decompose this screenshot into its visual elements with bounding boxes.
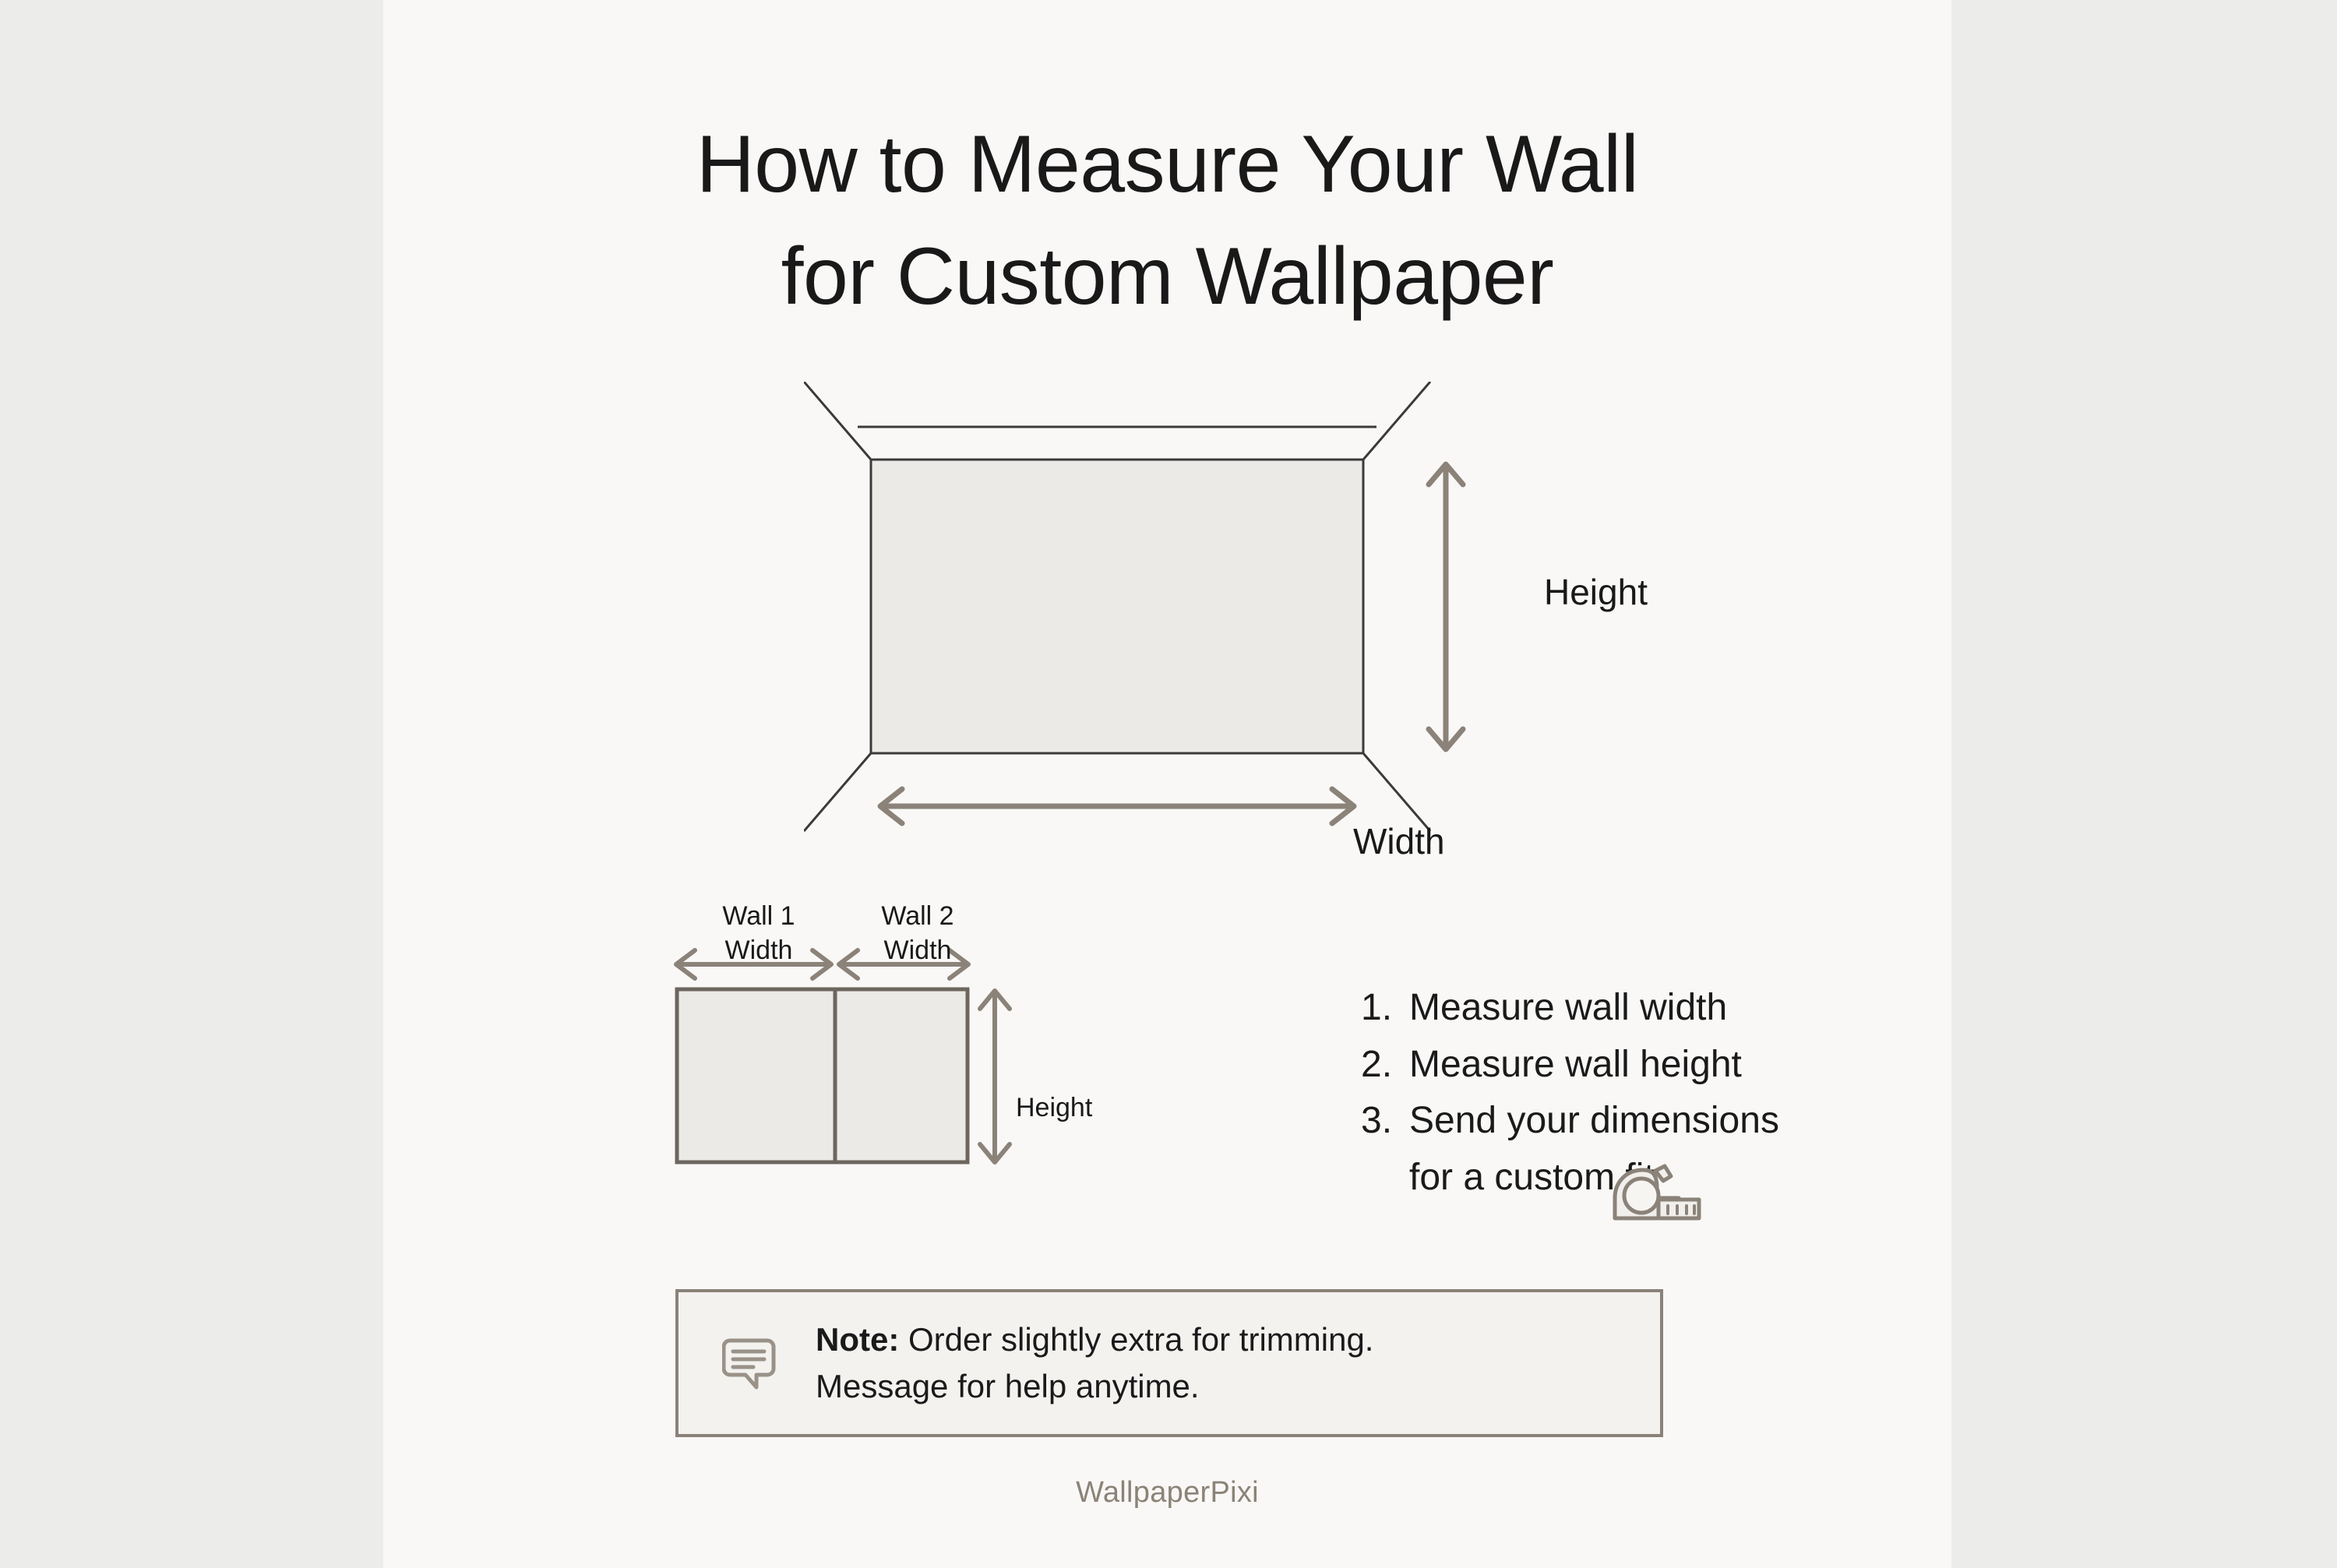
single-wall-perspective-diagram xyxy=(804,382,1583,880)
list-item: 3. Send your dimensions xyxy=(1361,1098,1937,1144)
page-title: How to Measure Your Wall for Custom Wall… xyxy=(383,109,1951,333)
step-number: 3. xyxy=(1361,1098,1409,1144)
note-line-1: Note: Order slightly extra for trimming. xyxy=(816,1316,1629,1363)
note-text: Note: Order slightly extra for trimming.… xyxy=(816,1316,1660,1409)
infographic-canvas: How to Measure Your Wall for Custom Wall… xyxy=(0,0,2337,1568)
wall-1-caption-line-1: Wall 1 xyxy=(722,901,795,931)
note-line-2: Message for help anytime. xyxy=(816,1363,1629,1410)
note-callout: Note: Order slightly extra for trimming.… xyxy=(675,1289,1663,1437)
corner-diagonal-bottom-right xyxy=(1363,753,1430,831)
corner-diagonal-top-right xyxy=(1363,382,1430,460)
note-line-1-rest: Order slightly extra for trimming. xyxy=(899,1321,1373,1358)
footer-brand: WallpaperPixi xyxy=(383,1476,1951,1510)
wall-2-caption: Wall 2 Width xyxy=(840,900,996,967)
main-height-label: Height xyxy=(1544,571,1648,613)
list-item: 2. Measure wall height xyxy=(1361,1042,1937,1088)
wall-1-caption: Wall 1 Width xyxy=(681,900,837,967)
title-line-1: How to Measure Your Wall xyxy=(383,109,1951,221)
two-wall-height-label: Height xyxy=(1016,1093,1092,1123)
wall-2-panel xyxy=(835,989,968,1162)
speech-bubble-icon xyxy=(722,1334,780,1392)
main-width-label: Width xyxy=(1353,820,1445,862)
wall-1-caption-line-2: Width xyxy=(725,936,793,965)
corner-diagonal-top-left xyxy=(804,382,871,460)
wall-2-caption-line-1: Wall 2 xyxy=(881,901,953,931)
step-text: Send your dimensions xyxy=(1409,1098,1937,1144)
step-text: Measure wall height xyxy=(1409,1042,1937,1088)
title-line-2: for Custom Wallpaper xyxy=(383,221,1951,333)
corner-diagonal-bottom-left xyxy=(804,753,871,831)
step-number: 1. xyxy=(1361,985,1409,1031)
wall-2-caption-line-2: Width xyxy=(884,936,952,965)
list-item: 1. Measure wall width xyxy=(1361,985,1937,1031)
width-dimension-arrow xyxy=(880,789,1354,823)
two-wall-height-arrow xyxy=(980,991,1010,1162)
step-number: 2. xyxy=(1361,1042,1409,1088)
infographic-card: How to Measure Your Wall for Custom Wall… xyxy=(383,0,1951,1568)
note-label: Note: xyxy=(816,1321,899,1358)
step-text: Measure wall width xyxy=(1409,985,1937,1031)
wall-face xyxy=(871,460,1363,753)
tape-measure-icon xyxy=(1610,1161,1704,1242)
height-dimension-arrow xyxy=(1429,464,1463,749)
wall-1-panel xyxy=(677,989,835,1162)
